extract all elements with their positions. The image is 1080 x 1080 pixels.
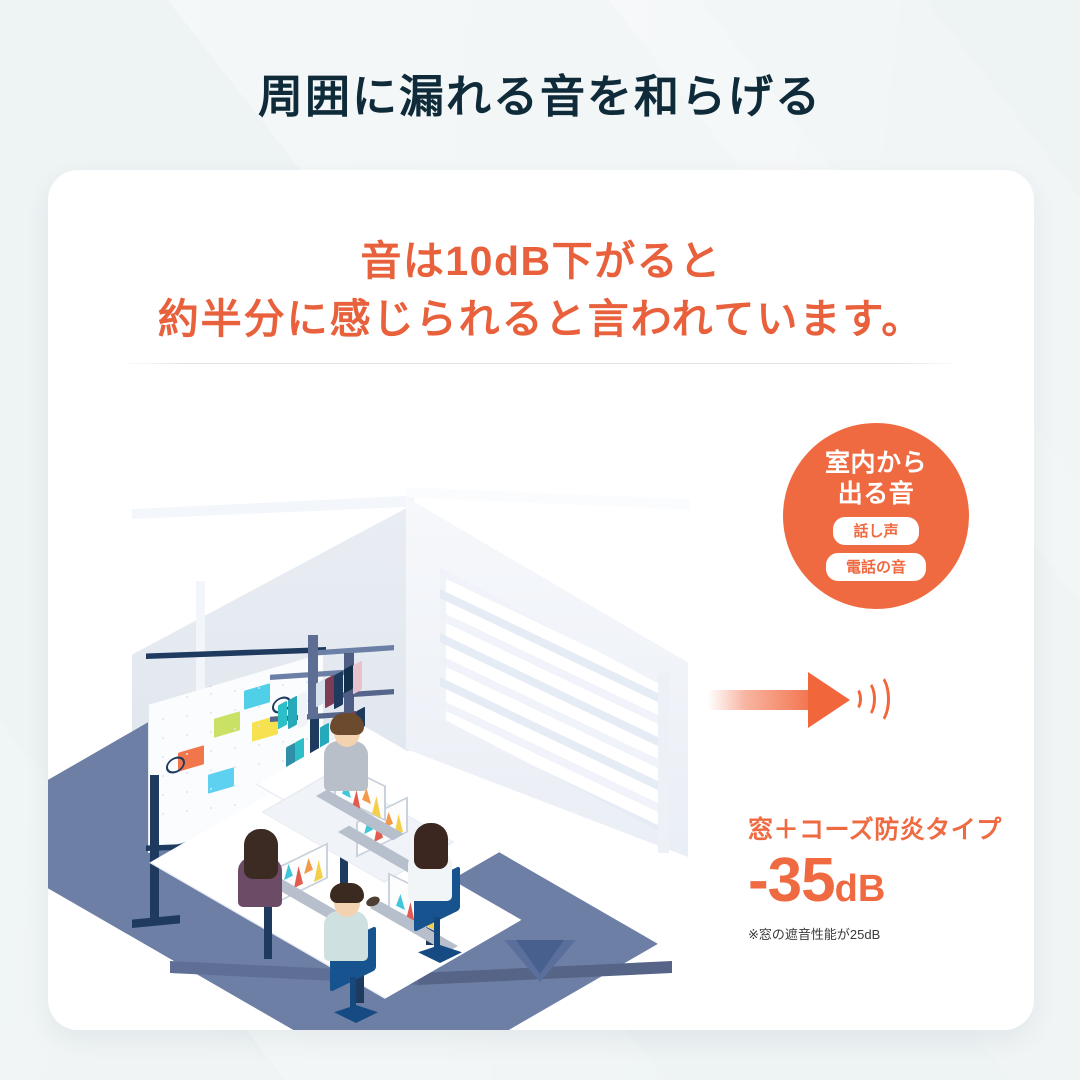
grid-dot (258, 744, 260, 746)
grid-dot (258, 687, 260, 689)
db-footnote: ※窓の遮音性能が25dB (748, 924, 1018, 943)
grid-dot (210, 750, 212, 752)
office-illustration (88, 385, 708, 1025)
book (288, 696, 297, 730)
book (334, 671, 343, 710)
badge-title-line-1: 室内から (825, 448, 927, 479)
page-title: 周囲に漏れる音を和らげる (0, 60, 1080, 125)
sticky-note (208, 767, 234, 793)
arrow-head (808, 672, 850, 728)
grid-dot (186, 715, 188, 717)
grid-dot (258, 706, 260, 708)
grid-dot (234, 709, 236, 711)
badge-pill-voice: 話し声 (833, 517, 918, 545)
badge-pill-phone: 電話の音 (826, 553, 926, 581)
book (325, 675, 334, 709)
badge-title-line-2: 出る音 (825, 479, 927, 510)
indoor-noise-badge: 室内から 出る音 話し声 電話の音 (783, 423, 969, 609)
person-torso (324, 911, 368, 961)
grid-dot (234, 766, 236, 768)
grid-dot (162, 756, 164, 758)
book (353, 661, 362, 695)
grid-dot (186, 753, 188, 755)
headline-line-2: 約半分に感じられると言われています。 (48, 290, 1034, 348)
wall-left-cap (132, 493, 414, 519)
grid-dot (186, 734, 188, 736)
grid-dot (258, 763, 260, 765)
headline: 音は10dB下がると 約半分に感じられると言われています。 (48, 232, 1034, 348)
wall-right-cap (406, 485, 690, 511)
book (278, 701, 287, 730)
grid-dot (162, 794, 164, 796)
grid-dot (162, 737, 164, 739)
whiteboard-leg-left (150, 775, 159, 925)
person-torso (324, 741, 368, 791)
grid-dot (186, 810, 188, 812)
db-number: -35 (748, 846, 835, 915)
grid-dot (234, 728, 236, 730)
grid-dot (186, 696, 188, 698)
person-hair (330, 883, 364, 903)
db-reduction-value: -35dB (748, 850, 1018, 912)
grid-dot (234, 804, 236, 806)
grid-dot (258, 725, 260, 727)
book (298, 691, 307, 730)
book (344, 665, 353, 694)
grid-dot (210, 788, 212, 790)
sound-wave-arc (864, 673, 890, 725)
arrow-shaft (708, 690, 814, 710)
content-card: 音は10dB下がると 約半分に感じられると言われています。 (48, 170, 1034, 1030)
person-hair (414, 823, 448, 869)
whiteboard-mark (166, 754, 185, 775)
grid-dot (210, 731, 212, 733)
grid-dot (210, 693, 212, 695)
grid-dot (210, 712, 212, 714)
grid-dot (186, 772, 188, 774)
book (316, 679, 325, 708)
grid-dot (234, 690, 236, 692)
section-divider (120, 363, 962, 364)
db-unit: dB (835, 868, 886, 910)
grid-dot (234, 747, 236, 749)
window-frame-right (658, 673, 669, 853)
grid-dot (162, 775, 164, 777)
grid-dot (210, 807, 212, 809)
person-hair (244, 829, 278, 879)
grid-dot (186, 791, 188, 793)
person-hair (330, 713, 364, 735)
grid-dot (210, 769, 212, 771)
sticky-note (214, 711, 240, 737)
performance-stats: 窓＋コーズ防炎タイプ -35dB ※窓の遮音性能が25dB (748, 810, 1018, 943)
grid-dot (234, 785, 236, 787)
headline-line-1: 音は10dB下がると (48, 232, 1034, 290)
grid-dot (162, 813, 164, 815)
sound-leak-arrow-icon (708, 665, 888, 735)
product-type-label: 窓＋コーズ防炎タイプ (748, 810, 1018, 846)
badge-title: 室内から 出る音 (825, 448, 927, 509)
grid-dot (162, 718, 164, 720)
